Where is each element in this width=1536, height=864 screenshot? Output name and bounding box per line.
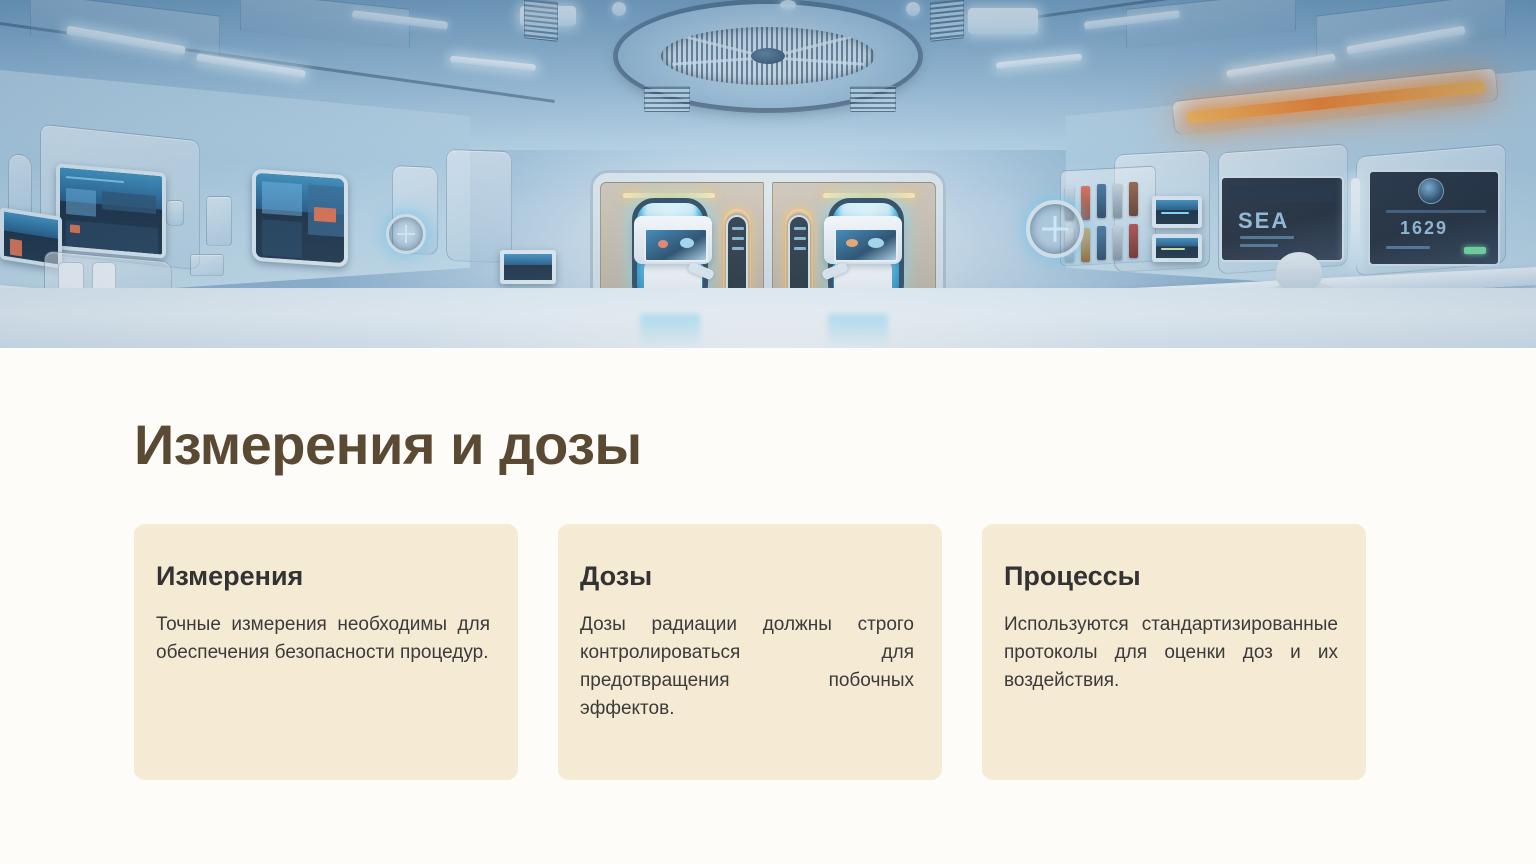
monitor-text-line [1161,212,1189,214]
card-body: Используются стандартизированные протоко… [1004,611,1338,695]
status-indicator [1464,247,1486,254]
card-row: Измерения Точные измерения необходимы дл… [134,524,1366,780]
kiosk-head [824,216,902,264]
wall-tool [1129,224,1138,258]
wall-emergency-box [206,196,232,246]
hero-scene-illustration: SEA 1629 [0,0,1536,348]
kiosk-screen-marker [680,238,694,248]
wall-tool [1097,226,1106,260]
kiosk-screen[interactable] [834,228,898,262]
kiosk-screen-marker [658,240,668,248]
ceiling-spotlight [612,2,626,16]
card-doses: Дозы Дозы радиации должны строго контрол… [558,524,942,780]
keypad-led [732,247,744,250]
ceiling-grille [524,0,558,42]
ceiling-grille [930,0,964,42]
wall-monitor[interactable] [1152,234,1202,262]
monitor-screen [504,254,552,280]
monitor-widget [262,219,302,258]
wall-outlet [190,254,224,276]
display-bar [1386,246,1430,249]
monitor-text-line [1161,248,1185,250]
wall-monitor[interactable] [1152,196,1202,228]
keypad-led [794,247,806,250]
ceiling-lamp [968,8,1038,34]
card-measurements: Измерения Точные измерения необходимы дл… [134,524,518,780]
porthole-crosshair [397,225,415,243]
vent-hub [751,48,785,64]
mission-display[interactable]: 1629 [1368,170,1500,266]
keypad-led [794,227,806,230]
ceiling-grille [850,86,896,112]
wall-tool [1113,184,1122,218]
wall-panel [446,149,512,263]
wall-monitor[interactable] [252,169,348,268]
content-area: Измерения и дозы Измерения Точные измере… [134,348,1366,780]
card-title: Измерения [156,562,490,592]
wall-switch [166,200,184,226]
ceiling-spotlight [906,2,920,16]
slide: SEA 1629 [0,0,1536,864]
monitor-alert [70,224,80,233]
floor-glow-reflection [640,314,700,348]
floor-reflection [388,292,1148,348]
display-readout: 1629 [1400,218,1448,239]
operator-head [1276,252,1322,292]
keypad-led [794,237,806,240]
card-body: Дозы радиации должны строго контролирова… [580,611,914,723]
kiosk-screen[interactable] [644,228,708,262]
equipment-monitor[interactable] [500,250,556,284]
wall-tool [1097,184,1106,218]
kiosk-screen-marker [846,239,858,247]
monitor-alert [10,239,22,257]
wall-tool [1129,182,1138,216]
display-bar [1240,236,1294,239]
display-readout: SEA [1238,208,1289,234]
porthole-crosshair [1042,216,1068,242]
ceiling-spotlight [780,0,796,10]
floor-glow-reflection [828,314,888,348]
monitor-widget [66,188,96,217]
keypad-led [732,227,744,230]
porthole [1026,200,1084,258]
display-header [1230,186,1334,202]
kiosk-head [634,216,712,264]
display-bar [1386,210,1486,213]
status-display[interactable]: SEA [1220,176,1344,262]
page-title: Измерения и дозы [134,414,1366,476]
emblem-icon [1418,178,1444,204]
hero-image: SEA 1629 [0,0,1536,348]
ceiling-grille [644,86,690,112]
card-body: Точные измерения необходимы для обеспече… [156,611,490,667]
wall-monitor[interactable] [56,163,166,259]
card-processes: Процессы Используются стандартизированны… [982,524,1366,780]
kiosk-screen-marker [868,238,884,248]
wall-tool [1081,186,1090,220]
monitor-alert [314,207,336,223]
monitor-widget [262,181,302,216]
card-title: Процессы [1004,562,1338,592]
wall-tool [1113,226,1122,260]
card-title: Дозы [580,562,914,592]
display-bar [1240,244,1278,247]
porthole [386,214,426,254]
keypad-led [732,237,744,240]
